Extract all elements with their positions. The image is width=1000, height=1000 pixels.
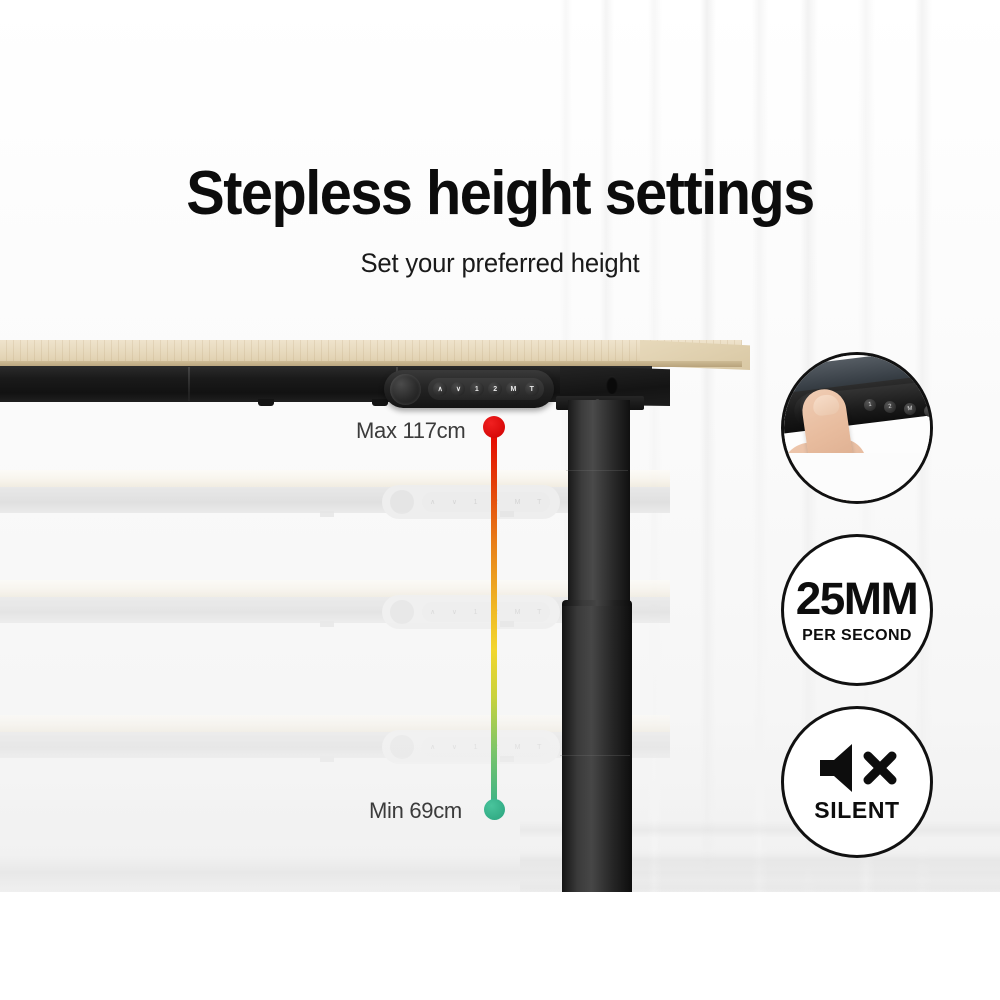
height-range-gradient-line — [491, 427, 497, 812]
ghost-control-panel: ∧ ∨ 1 2 M T — [382, 730, 560, 764]
page-title: Stepless height settings — [35, 158, 965, 229]
ghost-btn: ∨ — [452, 608, 458, 616]
floor-area — [0, 892, 1000, 1000]
product-feature-image: Stepless height settings Set your prefer… — [0, 0, 1000, 1000]
down-button[interactable]: ∨ — [451, 382, 465, 396]
min-height-label: Min 69cm — [369, 798, 462, 824]
ghost-btn: M — [515, 609, 521, 616]
badge-silent: SILENT — [781, 706, 933, 858]
ghost-frame-foot — [500, 621, 514, 627]
cable-port-icon — [606, 376, 618, 394]
frame-foot — [258, 399, 274, 406]
photo-white-base — [784, 453, 930, 501]
preset-1-button[interactable]: 1 — [470, 382, 484, 396]
min-height-marker-dot — [484, 799, 505, 820]
knob-icon[interactable] — [390, 374, 421, 405]
ghost-btn: T — [537, 744, 542, 751]
silent-label: SILENT — [814, 797, 899, 824]
ghost-frame-foot — [500, 756, 514, 762]
ghost-btn: 1 — [474, 744, 478, 751]
leg-column-upper — [568, 400, 630, 605]
ghost-btn: T — [537, 499, 542, 506]
ghost-control-panel: ∧ ∨ 1 2 M T — [382, 595, 560, 629]
leg-segment-line — [566, 470, 628, 471]
ghost-frame-foot — [320, 756, 334, 762]
ghost-frame-foot — [320, 511, 334, 517]
speaker-mute-icon — [814, 741, 900, 795]
ghost-control-panel: ∧ ∨ 1 2 M T — [382, 485, 560, 519]
ghost-button-row: ∧ ∨ 1 2 M T — [422, 737, 550, 757]
ghost-btn: ∨ — [452, 743, 458, 751]
timer-button[interactable]: T — [525, 382, 539, 396]
ghost-frame-foot — [320, 621, 334, 627]
ghost-btn: ∧ — [430, 498, 436, 506]
ghost-btn: 1 — [474, 499, 478, 506]
ghost-btn: 1 — [474, 609, 478, 616]
frame-beam — [0, 366, 652, 402]
leg-segment-line — [560, 755, 630, 756]
badge-control-panel-photo: 1 2 M T — [781, 352, 933, 504]
ghost-frame-foot — [500, 511, 514, 517]
max-height-label: Max 117cm — [356, 418, 465, 444]
leg-column-lower — [562, 606, 632, 894]
ghost-btn: M — [515, 744, 521, 751]
ghost-knob-icon — [390, 735, 414, 759]
frame-foot — [372, 399, 388, 406]
control-button-row: ∧ ∨ 1 2 M T — [428, 378, 544, 400]
photo-inner: 1 2 M T — [784, 355, 930, 501]
preset-2-button[interactable]: 2 — [488, 382, 502, 396]
badge-speed: 25MM PER SECOND — [781, 534, 933, 686]
ghost-knob-icon — [390, 600, 414, 624]
ghost-btn: ∧ — [430, 743, 436, 751]
max-height-marker-dot — [483, 416, 505, 438]
memory-button[interactable]: M — [506, 382, 520, 396]
ghost-button-row: ∧ ∨ 1 2 M T — [422, 492, 550, 512]
ghost-button-row: ∧ ∨ 1 2 M T — [422, 602, 550, 622]
floor-shadow-band — [0, 855, 1000, 893]
ghost-btn: M — [515, 499, 521, 506]
ghost-btn: ∨ — [452, 498, 458, 506]
ghost-knob-icon — [390, 490, 414, 514]
frame-beam-seam — [188, 367, 190, 401]
ghost-btn: ∧ — [430, 608, 436, 616]
speed-unit-label: PER SECOND — [802, 627, 912, 645]
speed-value: 25MM — [796, 576, 917, 621]
up-button[interactable]: ∧ — [433, 382, 447, 396]
page-subtitle: Set your preferred height — [25, 248, 975, 279]
ghost-btn: T — [537, 609, 542, 616]
